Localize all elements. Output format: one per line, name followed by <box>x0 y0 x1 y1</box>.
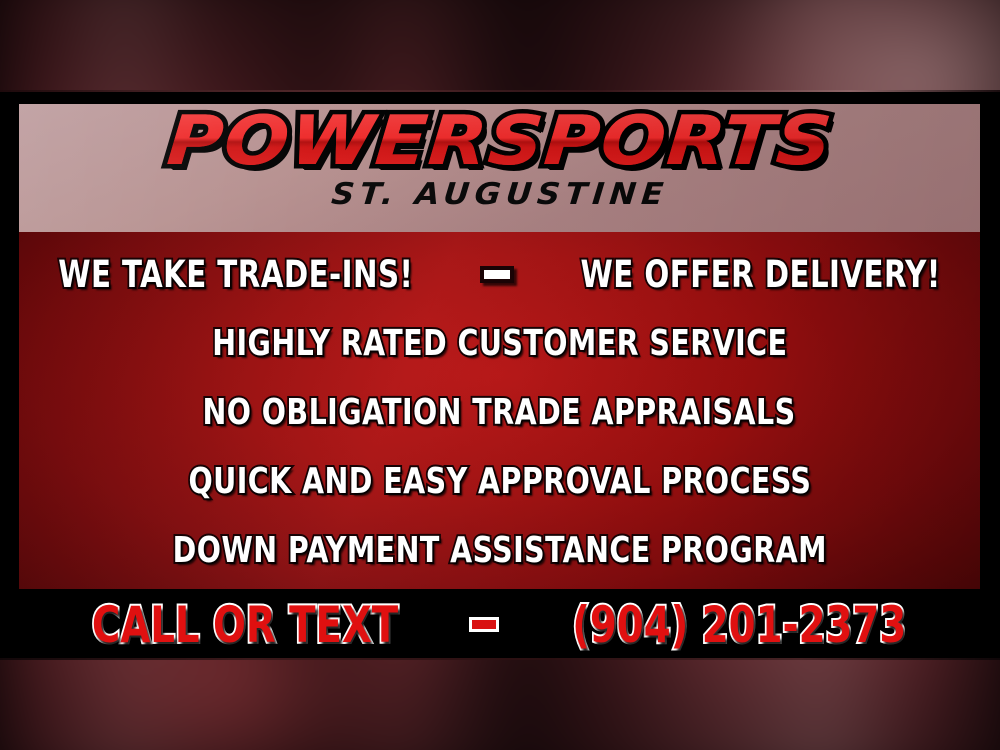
feature-delivery: WE OFFER DELIVERY! <box>580 256 940 293</box>
feature-approval-process: QUICK AND EASY APPROVAL PROCESS <box>188 464 811 500</box>
feature-trade-ins: WE TAKE TRADE-INS! <box>58 256 413 293</box>
features-panel: WE TAKE TRADE-INS! WE OFFER DELIVERY! HI… <box>19 232 980 589</box>
separator-dash-icon <box>480 266 514 283</box>
logo-panel: POWERSPORTSPOWERSPORTS ST. AUGUSTINE <box>19 104 980 232</box>
brand-name: POWERSPORTSPOWERSPORTS <box>164 108 834 176</box>
feature-row-1: WE TAKE TRADE-INS! WE OFFER DELIVERY! <box>34 256 965 293</box>
feature-customer-service: HIGHLY RATED CUSTOMER SERVICE <box>212 326 787 362</box>
feature-row-2: HIGHLY RATED CUSTOMER SERVICE <box>173 326 827 362</box>
cta-call-or-text-label: CALL OR TEXT <box>92 600 398 650</box>
feature-row-3: NO OBLIGATION TRADE APPRAISALS <box>162 395 836 431</box>
logo-lockup: POWERSPORTSPOWERSPORTS ST. AUGUSTINE <box>19 104 980 232</box>
call-to-action-bar: CALL OR TEXT (904) 201-2373 <box>0 589 1000 660</box>
brand-location: ST. AUGUSTINE <box>330 180 670 210</box>
powersports-ad-banner: POWERSPORTSPOWERSPORTS ST. AUGUSTINE WE … <box>0 0 1000 750</box>
cta-phone-number[interactable]: (904) 201-2373 <box>572 600 906 650</box>
feature-trade-appraisals: NO OBLIGATION TRADE APPRAISALS <box>203 395 796 431</box>
feature-down-payment-assistance: DOWN PAYMENT ASSISTANCE PROGRAM <box>172 533 826 569</box>
feature-row-4: QUICK AND EASY APPROVAL PROCESS <box>146 464 854 500</box>
cta-inner: CALL OR TEXT (904) 201-2373 <box>67 600 934 650</box>
cta-separator-dash-icon <box>469 617 499 632</box>
ad-card: POWERSPORTSPOWERSPORTS ST. AUGUSTINE WE … <box>0 92 1000 660</box>
features-list: WE TAKE TRADE-INS! WE OFFER DELIVERY! HI… <box>19 232 980 589</box>
feature-row-5: DOWN PAYMENT ASSISTANCE PROGRAM <box>128 533 872 569</box>
brand-name-gradient-fill: POWERSPORTS <box>164 108 834 176</box>
